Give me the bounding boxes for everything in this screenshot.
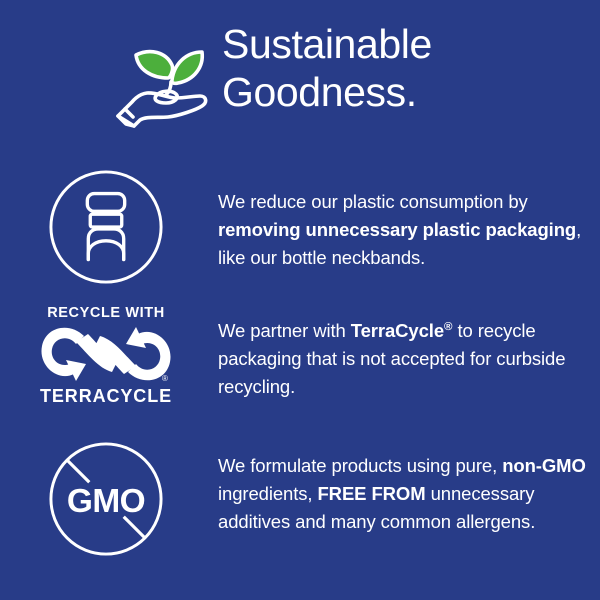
claim-row-plastic-text: We reduce our plastic consumption by rem… xyxy=(218,168,600,272)
gmo-label: GMO xyxy=(67,483,145,520)
terracycle-top-label: RECYCLE WITH xyxy=(47,305,165,321)
text-segment-bold: TerraCycle® xyxy=(351,320,453,341)
claim-row-plastic-icon-column xyxy=(0,168,218,286)
registered-mark: ® xyxy=(162,374,168,383)
infinity-recycle-arrows-icon: ® xyxy=(40,324,172,384)
terracycle-bottom-label: TERRACYCLE xyxy=(40,386,172,406)
text-segment: We formulate products using pure, xyxy=(218,455,502,476)
no-gmo-circle-icon: GMO xyxy=(47,440,165,558)
hand-holding-plant-icon xyxy=(112,28,212,132)
page-title-line-2: Goodness. xyxy=(222,68,432,116)
terracycle-logo: RECYCLE WITH ® TERR xyxy=(41,305,171,406)
page-title-line-1: Sustainable xyxy=(222,20,432,68)
claim-row-terracycle-icon-column: RECYCLE WITH ® TERR xyxy=(0,305,218,406)
page-title: Sustainable Goodness. xyxy=(222,20,432,116)
claim-row-gmo-text: We formulate products using pure, non-GM… xyxy=(218,440,600,536)
claim-row-plastic: We reduce our plastic consumption by rem… xyxy=(0,168,600,286)
text-segment: ingredients, xyxy=(218,483,317,504)
text-segment-bold: non-GMO xyxy=(502,455,586,476)
header: Sustainable Goodness. xyxy=(0,22,600,142)
sustainable-goodness-panel: Sustainable Goodness. We reduce our xyxy=(0,0,600,600)
terracycle-brand: TerraCycle xyxy=(351,320,444,341)
text-segment-bold: removing unnecessary plastic packaging xyxy=(218,219,576,240)
text-segment: We partner with xyxy=(218,320,351,341)
text-segment-bold: FREE FROM xyxy=(317,483,425,504)
claim-row-gmo-icon-column: GMO xyxy=(0,440,218,558)
plastic-bottle-circle-icon xyxy=(47,168,165,286)
claim-row-terracycle-text: We partner with TerraCycle® to recycle p… xyxy=(218,305,600,401)
claim-row-terracycle: RECYCLE WITH ® TERR xyxy=(0,305,600,406)
claim-row-gmo: GMO We formulate products using pure, no… xyxy=(0,440,600,558)
text-segment: We reduce our plastic consumption by xyxy=(218,191,528,212)
